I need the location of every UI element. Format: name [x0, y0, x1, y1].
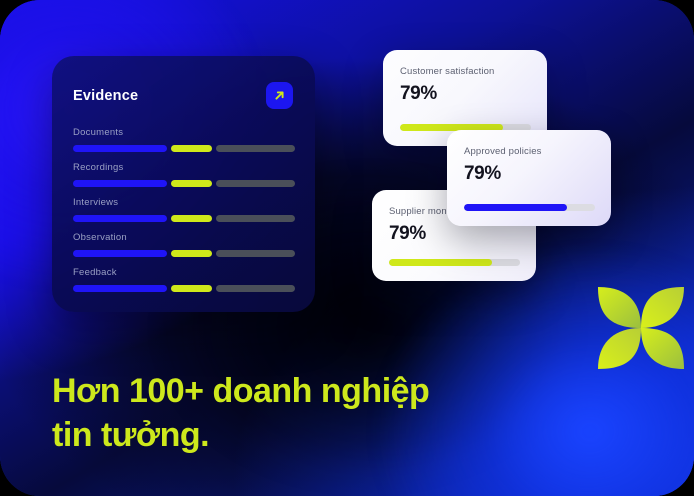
evidence-panel: Evidence DocumentsRecordingsInterviewsOb…: [52, 56, 315, 312]
evidence-row-bar: [73, 285, 295, 292]
evidence-row-bar: [73, 145, 295, 152]
evidence-bar-segment-blue: [73, 145, 167, 152]
evidence-panel-header: Evidence: [52, 56, 315, 109]
headline-line-2: tin tưởng.: [52, 414, 522, 458]
evidence-row-label: Observation: [73, 232, 295, 243]
evidence-bar-segment-lime: [171, 285, 212, 292]
evidence-row-label: Feedback: [73, 267, 295, 278]
evidence-bar-segment-gray: [216, 285, 295, 292]
evidence-bar-segment-lime: [171, 215, 212, 222]
evidence-bar-segment-gray: [216, 215, 295, 222]
evidence-row-label: Recordings: [73, 162, 295, 173]
headline: Hơn 100+ doanh nghiệp tin tưởng.: [52, 370, 522, 457]
metric-card-progress-fill: [464, 204, 567, 211]
arrow-up-right-icon: [273, 89, 286, 102]
evidence-row-bar: [73, 250, 295, 257]
evidence-bar-segment-lime: [171, 145, 212, 152]
evidence-bar-segment-blue: [73, 215, 167, 222]
metric-card-value: 79%: [389, 223, 520, 245]
metric-card-label: Customer satisfaction: [400, 66, 531, 77]
evidence-row: Feedback: [73, 267, 295, 292]
four-petal-flower-icon: [592, 275, 690, 381]
evidence-bar-segment-gray: [216, 250, 295, 257]
metric-card-approved-policies[interactable]: Approved policies 79%: [447, 130, 611, 226]
metric-card-progress-fill: [389, 259, 492, 266]
metric-card-label: Approved policies: [464, 146, 595, 157]
evidence-row: Interviews: [73, 197, 295, 222]
evidence-bar-segment-lime: [171, 180, 212, 187]
evidence-open-button[interactable]: [266, 82, 293, 109]
evidence-bar-segment-blue: [73, 285, 167, 292]
evidence-row-label: Interviews: [73, 197, 295, 208]
evidence-bar-segment-gray: [216, 145, 295, 152]
evidence-row-bar: [73, 180, 295, 187]
evidence-row: Recordings: [73, 162, 295, 187]
metric-card-value: 79%: [400, 83, 531, 105]
evidence-panel-title: Evidence: [73, 88, 138, 104]
evidence-bar-segment-blue: [73, 250, 167, 257]
evidence-row-label: Documents: [73, 127, 295, 138]
evidence-row: Observation: [73, 232, 295, 257]
metric-card-value: 79%: [464, 163, 595, 185]
metric-card-progress-track: [464, 204, 595, 211]
promo-banner: Evidence DocumentsRecordingsInterviewsOb…: [0, 0, 694, 496]
headline-line-1: Hơn 100+ doanh nghiệp: [52, 370, 522, 414]
evidence-row-bar: [73, 215, 295, 222]
evidence-bar-segment-blue: [73, 180, 167, 187]
metric-card-progress-track: [389, 259, 520, 266]
evidence-row-list: DocumentsRecordingsInterviewsObservation…: [52, 109, 315, 292]
evidence-bar-segment-gray: [216, 180, 295, 187]
evidence-bar-segment-lime: [171, 250, 212, 257]
evidence-row: Documents: [73, 127, 295, 152]
